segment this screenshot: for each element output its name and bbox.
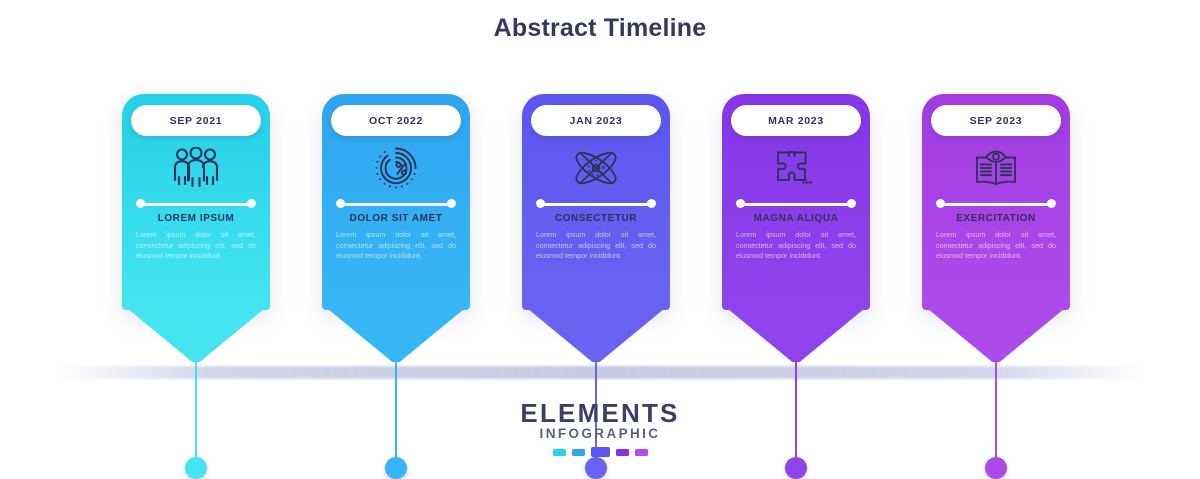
brand-dashes bbox=[0, 447, 1200, 457]
brand-dash-1 bbox=[553, 449, 566, 456]
date-pill-4: MAR 2023 bbox=[731, 105, 861, 136]
atom-icon bbox=[522, 142, 670, 194]
brand-title: ELEMENTS bbox=[0, 400, 1200, 426]
divider-3 bbox=[536, 199, 656, 209]
timeline-card-4[interactable]: MAR 2023 MAGNA ALIQUA Lorem ipsum dolor … bbox=[722, 94, 870, 310]
card-body-2[interactable]: OCT 2022 DOLOR SIT AME bbox=[322, 94, 470, 310]
date-pill-2: OCT 2022 bbox=[331, 105, 461, 136]
card-description-5: Lorem ipsum dolor sit amet, consectetur … bbox=[936, 230, 1056, 262]
date-label-3: JAN 2023 bbox=[570, 115, 623, 127]
card-heading-4: MAGNA ALIQUA bbox=[728, 213, 864, 224]
date-label-4: MAR 2023 bbox=[768, 115, 824, 127]
divider-1 bbox=[136, 199, 256, 209]
timeline-node-5[interactable] bbox=[985, 457, 1007, 479]
date-label-1: SEP 2021 bbox=[170, 115, 223, 127]
brand-subtitle: INFOGRAPHIC bbox=[0, 426, 1200, 442]
timeline-card-3[interactable]: JAN 2023 CONSECTET bbox=[522, 94, 670, 310]
timeline-cards-container: SEP 2021 LOREM IPSUM Lorem ipsum dolor s… bbox=[0, 0, 1200, 463]
card-heading-5: EXERCITATION bbox=[928, 213, 1064, 224]
puzzle-pieces-icon bbox=[722, 142, 870, 194]
card-description-3: Lorem ipsum dolor sit amet, consectetur … bbox=[536, 230, 656, 262]
date-label-2: OCT 2022 bbox=[369, 115, 423, 127]
card-description-1: Lorem ipsum dolor sit amet, consectetur … bbox=[136, 230, 256, 262]
card-body-3[interactable]: JAN 2023 CONSECTET bbox=[522, 94, 670, 310]
card-heading-1: LOREM IPSUM bbox=[128, 213, 264, 224]
brand-footer: ELEMENTS INFOGRAPHIC bbox=[0, 400, 1200, 457]
percent-chart-icon bbox=[322, 142, 470, 194]
brand-dash-4 bbox=[616, 449, 629, 456]
timeline-node-1[interactable] bbox=[185, 457, 207, 479]
timeline-card-2[interactable]: OCT 2022 DOLOR SIT AME bbox=[322, 94, 470, 310]
timeline-node-2[interactable] bbox=[385, 457, 407, 479]
card-heading-2: DOLOR SIT AMET bbox=[328, 213, 464, 224]
card-tip-1 bbox=[122, 304, 270, 362]
card-tip-4 bbox=[722, 304, 870, 362]
people-group-icon bbox=[122, 142, 270, 194]
divider-4 bbox=[736, 199, 856, 209]
divider-2 bbox=[336, 199, 456, 209]
date-label-5: SEP 2023 bbox=[970, 115, 1023, 127]
card-body-5[interactable]: SEP 2023 EXERCITATION Lorem ipsum dolor … bbox=[922, 94, 1070, 310]
timeline-node-3[interactable] bbox=[585, 457, 607, 479]
card-body-4[interactable]: MAR 2023 MAGNA ALIQUA Lorem ipsum dolor … bbox=[722, 94, 870, 310]
timeline-node-4[interactable] bbox=[785, 457, 807, 479]
brand-dash-3 bbox=[591, 447, 610, 457]
brand-dash-5 bbox=[635, 449, 648, 456]
card-description-2: Lorem ipsum dolor sit amet, consectetur … bbox=[336, 230, 456, 262]
timeline-card-5[interactable]: SEP 2023 EXERCITATION Lorem ipsum dolor … bbox=[922, 94, 1070, 310]
timeline-card-1[interactable]: SEP 2021 LOREM IPSUM Lorem ipsum dolor s… bbox=[122, 94, 270, 310]
card-description-4: Lorem ipsum dolor sit amet, consectetur … bbox=[736, 230, 856, 262]
date-pill-3: JAN 2023 bbox=[531, 105, 661, 136]
card-tip-3 bbox=[522, 304, 670, 362]
date-pill-5: SEP 2023 bbox=[931, 105, 1061, 136]
card-tip-2 bbox=[322, 304, 470, 362]
card-body-1[interactable]: SEP 2021 LOREM IPSUM Lorem ipsum dolor s… bbox=[122, 94, 270, 310]
card-heading-3: CONSECTETUR bbox=[528, 213, 664, 224]
book-eye-icon bbox=[922, 142, 1070, 194]
date-pill-1: SEP 2021 bbox=[131, 105, 261, 136]
divider-5 bbox=[936, 199, 1056, 209]
brand-dash-2 bbox=[572, 449, 585, 456]
card-tip-5 bbox=[922, 304, 1070, 362]
